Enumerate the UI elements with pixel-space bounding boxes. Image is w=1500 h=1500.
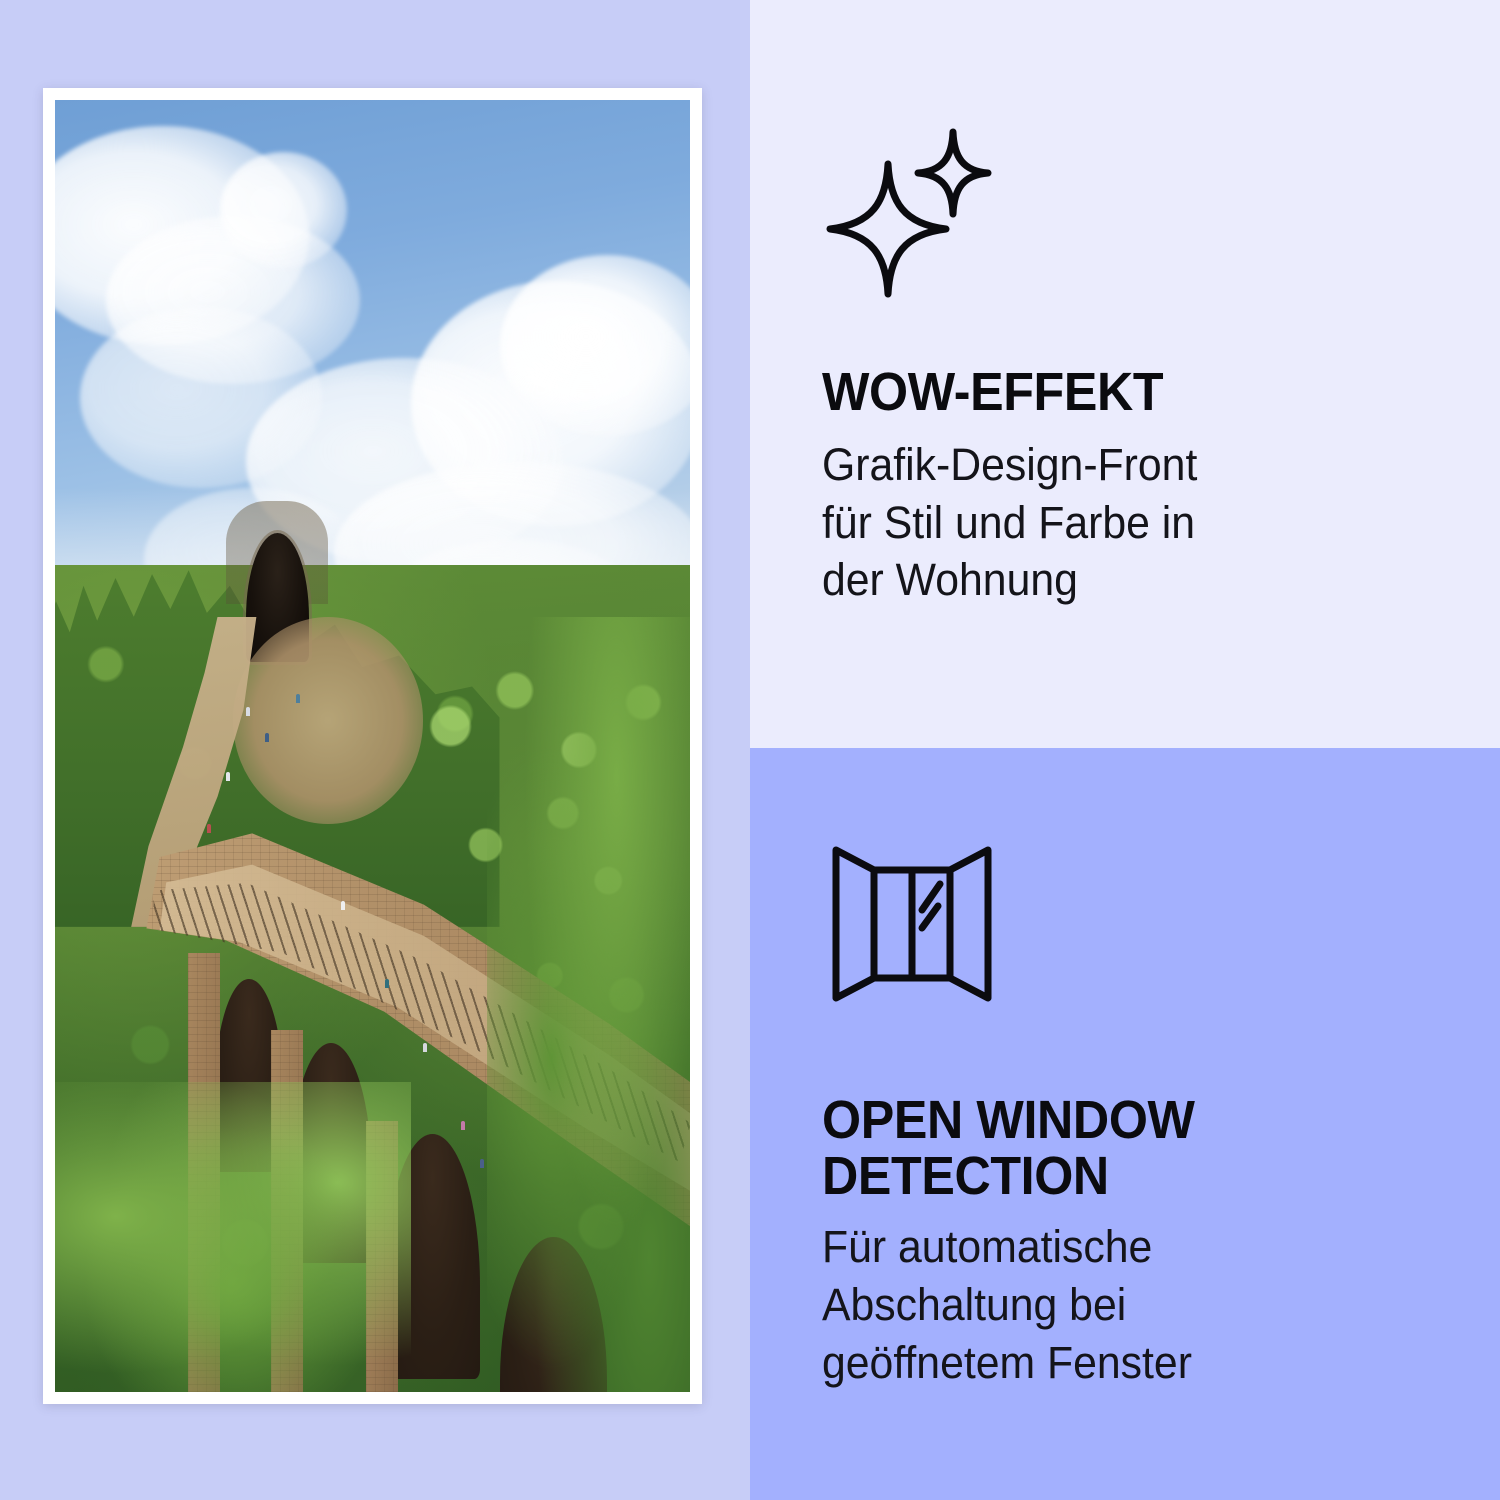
dirt-clearing [233,617,424,824]
open-window-icon [822,844,1002,1014]
photo-canvas [55,100,690,1392]
person [246,707,250,716]
person [423,1043,427,1052]
person [296,694,300,703]
person [385,979,389,988]
feature-open-window-detection: OPEN WINDOW DETECTION Für automatische A… [750,748,1500,1500]
picture-frame [43,88,702,1404]
feature-description: Grafik-Design-Front für Stil und Farbe i… [822,436,1413,609]
feature-wow-effekt: WOW-EFFEKT Grafik-Design-Front für Stil … [750,0,1500,748]
person [265,733,269,742]
features-column: WOW-EFFEKT Grafik-Design-Front für Stil … [750,0,1500,1500]
person [461,1121,465,1130]
infographic-root: WOW-EFFEKT Grafik-Design-Front für Stil … [0,0,1500,1500]
feature-title: OPEN WINDOW DETECTION [822,1092,1400,1204]
person [226,772,230,781]
person [207,824,211,833]
person [341,901,345,910]
sparkle-icon [822,128,1002,298]
feature-description: Für automatische Abschaltung bei geöffne… [822,1218,1413,1391]
foreground-foliage [55,1082,411,1392]
product-image-panel [0,0,750,1500]
person [480,1159,484,1168]
foreground-foliage [487,617,690,1392]
feature-title: WOW-EFFEKT [822,364,1400,420]
